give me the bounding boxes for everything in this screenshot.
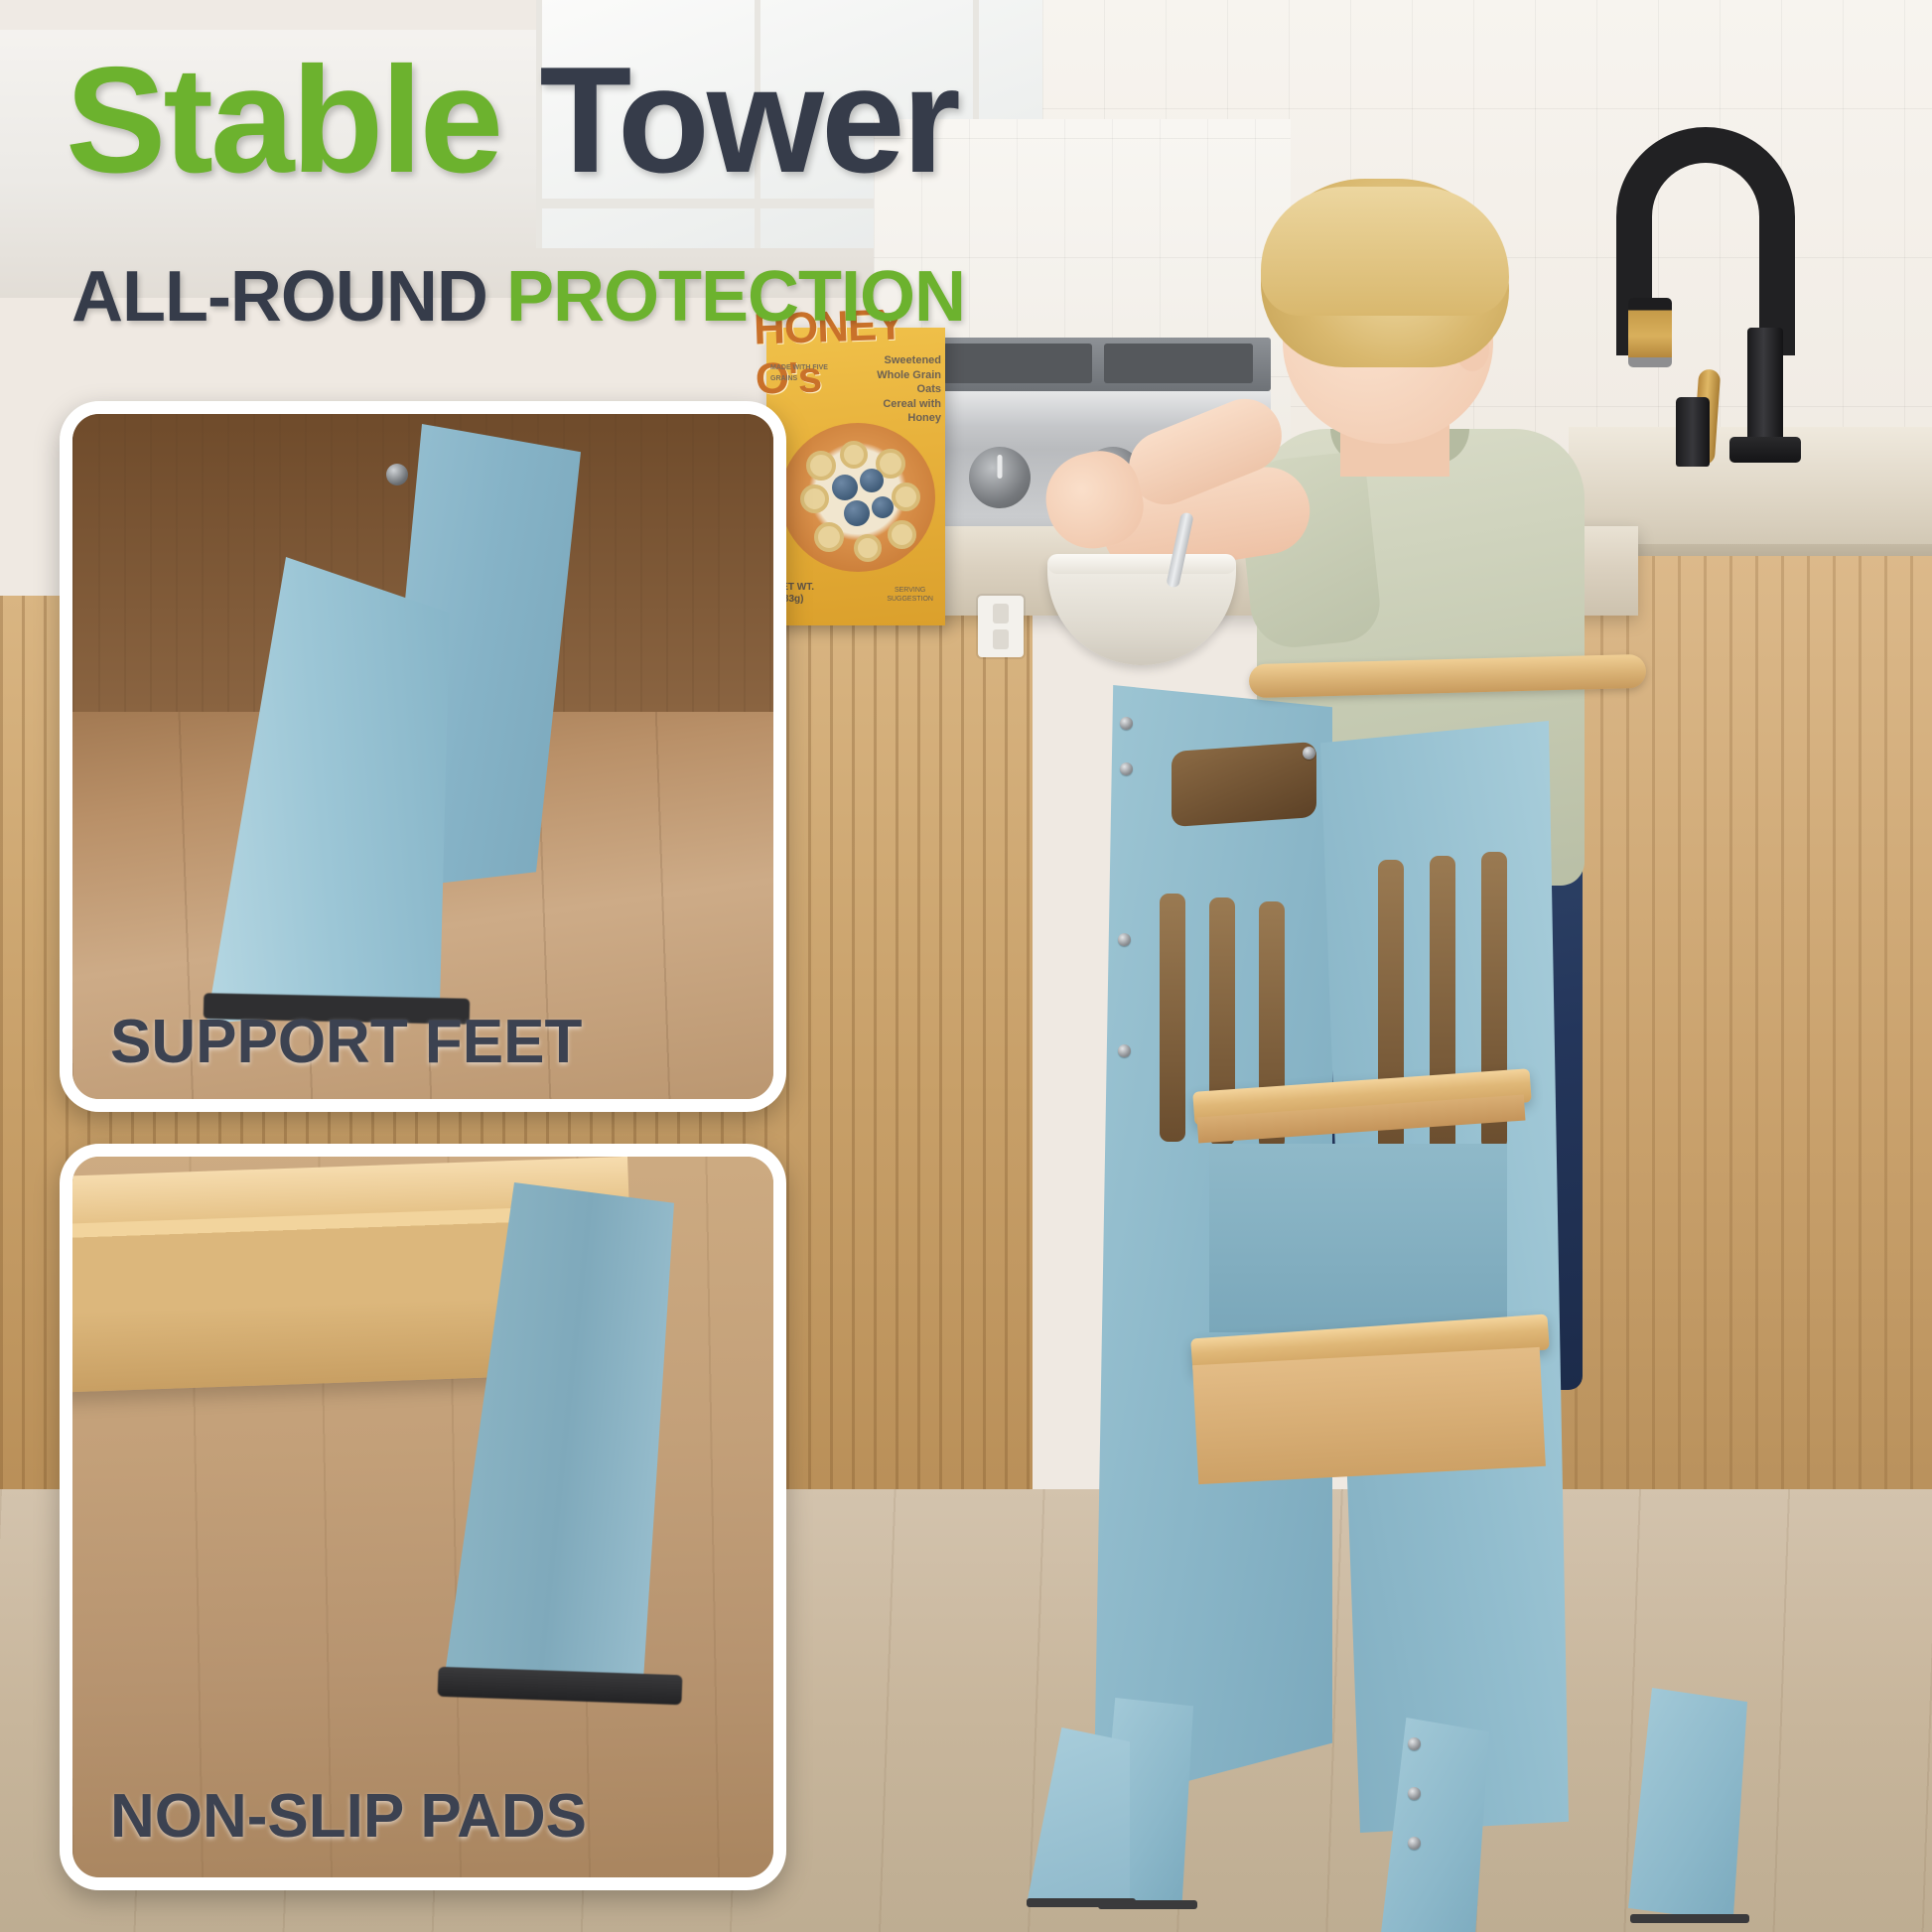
feature-caption-support-feet: SUPPORT FEET xyxy=(110,1007,582,1077)
feature-caption-non-slip-pads: NON-SLIP PADS xyxy=(110,1781,587,1852)
soap-dispenser xyxy=(1676,397,1710,467)
burner-grate xyxy=(943,344,1092,383)
feature-card-support-feet: SUPPORT FEET xyxy=(60,401,786,1112)
feature-card-non-slip-pads: NON-SLIP PADS xyxy=(60,1144,786,1890)
screw-icon xyxy=(386,464,408,485)
tower-right-leg xyxy=(1628,1688,1747,1922)
cereal-bowl-photo xyxy=(780,423,935,572)
page-subtitle: ALL-ROUND PROTECTION xyxy=(71,256,965,338)
cereal-description: Sweetened Whole Grain Oats Cereal with H… xyxy=(852,353,941,426)
tower-lower-step-face xyxy=(1192,1347,1546,1484)
bowl-rim xyxy=(1047,554,1236,574)
learning-tower-product xyxy=(1072,685,1847,1906)
upper-cabinet xyxy=(0,0,556,30)
headline-word-stable: Stable xyxy=(66,36,539,205)
wall-outlet xyxy=(978,596,1024,657)
cereal-serving-badge: SERVING SUGGESTION xyxy=(887,586,933,604)
child-hair-front xyxy=(1261,187,1509,316)
cereal-box: HONEY O's Sweetened Whole Grain Oats Cer… xyxy=(766,328,945,625)
support-feet-photo xyxy=(72,414,773,1099)
subtitle-word-allround: ALL-ROUND xyxy=(71,257,506,337)
faucet-base xyxy=(1729,437,1801,463)
tower-inner-riser xyxy=(1209,1144,1507,1332)
headline-word-tower: Tower xyxy=(539,36,957,205)
product-marketing-image: HONEY O's Sweetened Whole Grain Oats Cer… xyxy=(0,0,1932,1932)
subtitle-word-protection: PROTECTION xyxy=(506,257,965,337)
non-slip-pads-photo xyxy=(72,1157,773,1877)
tower-handle-cutout xyxy=(1172,742,1316,827)
page-title: Stable Tower xyxy=(66,44,1356,198)
cereal-side-text: MADE WITH FIVE GRAINS xyxy=(770,363,830,384)
range-knob xyxy=(969,447,1031,508)
